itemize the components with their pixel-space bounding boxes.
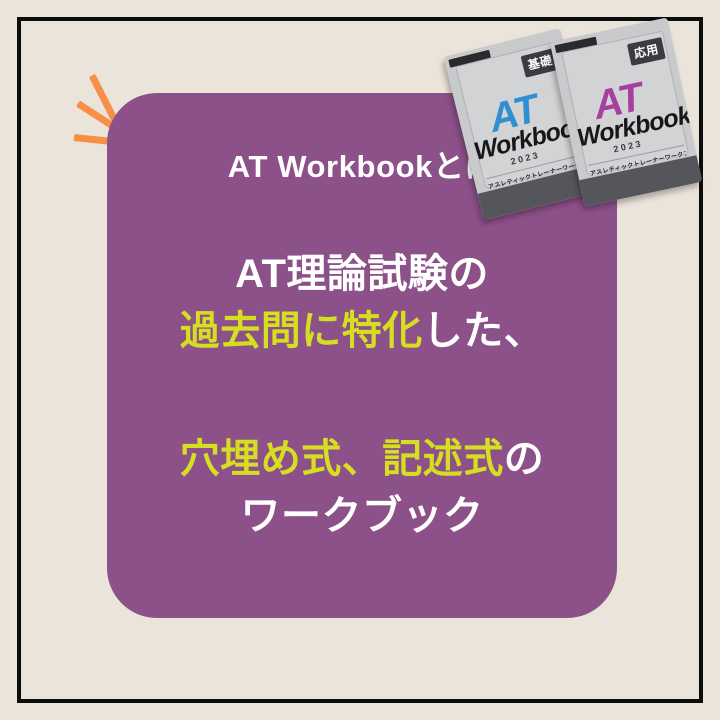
body-text: ワークブック [241, 494, 484, 538]
body-line: AT理論試験の [107, 246, 617, 303]
body-line: ワークブック [107, 488, 617, 545]
slide-canvas: AT Workbookとは AT理論試験の 過去問に特化した、 穴埋め式、記述式… [0, 0, 720, 720]
body-copy-block-b: 穴埋め式、記述式の ワークブック [107, 431, 617, 545]
highlighted-text: 穴埋め式、記述式 [180, 437, 504, 481]
highlighted-text: 過去問に特化 [180, 309, 423, 353]
body-text: の [504, 437, 545, 481]
body-line: 穴埋め式、記述式の [107, 431, 617, 488]
body-text: AT理論試験の [235, 252, 489, 296]
body-line: 過去問に特化した、 [107, 303, 617, 360]
body-text: した、 [423, 309, 545, 353]
body-copy-block-a: AT理論試験の 過去問に特化した、 [107, 246, 617, 360]
book-cover-group: 基礎 AT Workbook 2023 アスレティックトレーナーワークブック ブ… [448, 18, 710, 230]
